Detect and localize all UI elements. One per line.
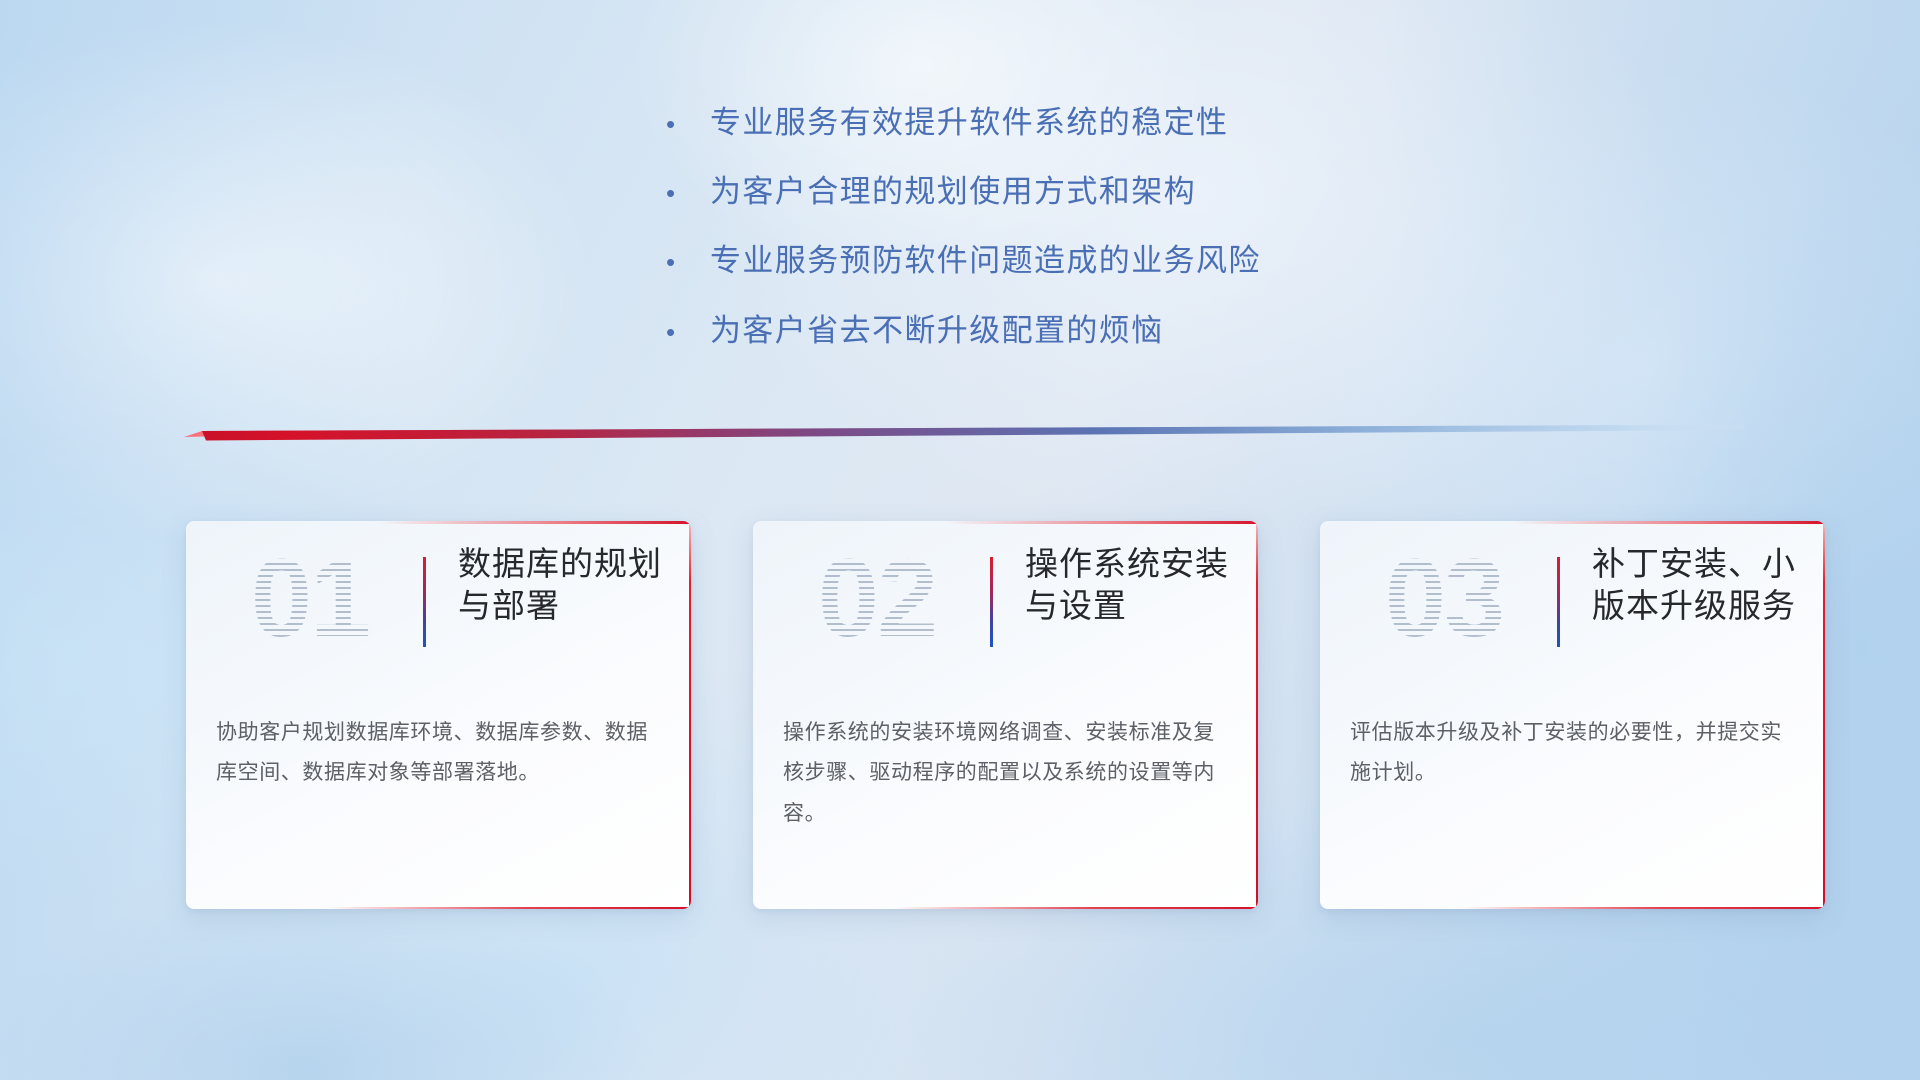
bullet-dot-icon: • bbox=[660, 111, 710, 137]
card-bottom-accent bbox=[327, 907, 691, 910]
card-title: 补丁安装、小版本升级服务 bbox=[1592, 543, 1803, 626]
card-divider-bar bbox=[1557, 557, 1560, 647]
bullet-text: 专业服务预防软件问题造成的业务风险 bbox=[710, 242, 1261, 279]
service-cards: 01 数据库的规划与部署 协助客户规划数据库环境、数据库参数、数据库空间、数据库… bbox=[186, 521, 1826, 921]
list-item: • 专业服务有效提升软件系统的稳定性 bbox=[660, 104, 1520, 141]
bullet-text: 为客户合理的规划使用方式和架构 bbox=[710, 173, 1196, 210]
list-item: • 为客户省去不断升级配置的烦恼 bbox=[660, 312, 1520, 349]
card-divider-bar bbox=[423, 557, 426, 647]
card-divider-bar bbox=[990, 557, 993, 647]
service-card-01[interactable]: 01 数据库的规划与部署 协助客户规划数据库环境、数据库参数、数据库空间、数据库… bbox=[186, 521, 691, 909]
card-body-text: 协助客户规划数据库环境、数据库参数、数据库空间、数据库对象等部署落地。 bbox=[216, 713, 665, 794]
card-header: 02 操作系统安装与设置 bbox=[753, 521, 1258, 697]
card-number: 01 bbox=[210, 539, 410, 659]
list-item: • 为客户合理的规划使用方式和架构 bbox=[660, 173, 1520, 210]
card-header: 01 数据库的规划与部署 bbox=[186, 521, 691, 697]
card-title: 操作系统安装与设置 bbox=[1025, 543, 1236, 626]
card-number: 03 bbox=[1344, 539, 1544, 659]
card-body-text: 评估版本升级及补丁安装的必要性，并提交实施计划。 bbox=[1350, 713, 1799, 794]
card-bottom-accent bbox=[1461, 907, 1825, 910]
bullet-dot-icon: • bbox=[660, 319, 710, 345]
service-card-03[interactable]: 03 补丁安装、小版本升级服务 评估版本升级及补丁安装的必要性，并提交实施计划。 bbox=[1320, 521, 1825, 909]
card-body-text: 操作系统的安装环境网络调查、安装标准及复核步骤、驱动程序的配置以及系统的设置等内… bbox=[783, 713, 1232, 834]
card-bottom-accent bbox=[894, 907, 1258, 910]
bullet-dot-icon: • bbox=[660, 180, 710, 206]
benefits-bullet-list: • 专业服务有效提升软件系统的稳定性 • 为客户合理的规划使用方式和架构 • 专… bbox=[660, 104, 1520, 349]
card-header: 03 补丁安装、小版本升级服务 bbox=[1320, 521, 1825, 697]
service-card-02[interactable]: 02 操作系统安装与设置 操作系统的安装环境网络调查、安装标准及复核步骤、驱动程… bbox=[753, 521, 1258, 909]
bullet-text: 为客户省去不断升级配置的烦恼 bbox=[710, 312, 1164, 349]
list-item: • 专业服务预防软件问题造成的业务风险 bbox=[660, 242, 1520, 279]
card-number: 02 bbox=[777, 539, 977, 659]
bullet-dot-icon: • bbox=[660, 249, 710, 275]
section-divider bbox=[184, 424, 1744, 446]
card-title: 数据库的规划与部署 bbox=[458, 543, 669, 626]
bullet-text: 专业服务有效提升软件系统的稳定性 bbox=[710, 104, 1228, 141]
